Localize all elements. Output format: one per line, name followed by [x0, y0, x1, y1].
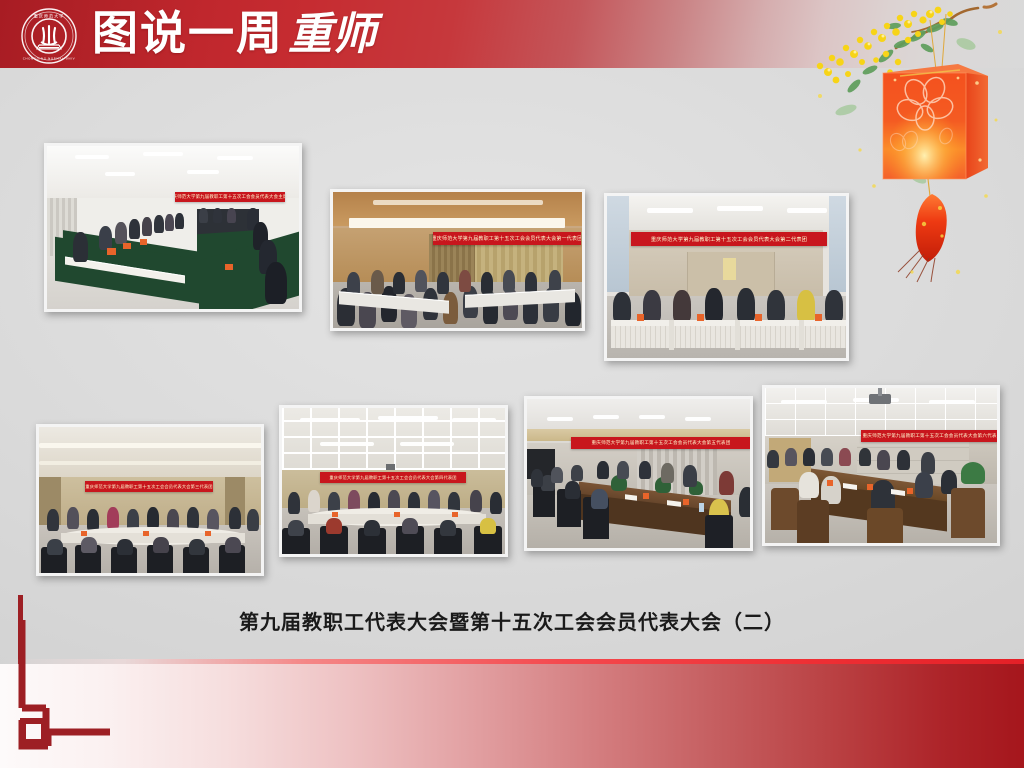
photo-delegation-6[interactable]: 重庆师范大学第九届教职工第十五次工会会员代表大会第六代表团 — [762, 385, 1000, 546]
corner-ornament-icon — [18, 620, 128, 750]
photo-delegation-4[interactable]: 重庆师范大学第九届教职工第十五次工会会员代表大会第四代表团 — [279, 405, 508, 557]
photo-presidium-meeting[interactable]: 重庆师范大学第九届教职工第十五次工会会员代表大会主席团 — [44, 143, 302, 312]
photo-banner: 重庆师范大学第九届教职工第十五次工会会员代表大会主席团 — [175, 192, 285, 202]
photo-banner: 重庆师范大学第九届教职工第十五次工会会员代表大会第六代表团 — [861, 430, 997, 442]
photo-delegation-1[interactable]: 重庆师范大学第九届教职工第十五次工会会员代表大会第一代表团 — [330, 189, 585, 331]
caption-row: 第九届教职工代表大会暨第十五次工会会员代表大会（二） — [0, 592, 1024, 652]
svg-text:CHONGQING NORMAL UNIV: CHONGQING NORMAL UNIV — [23, 57, 75, 61]
photo-banner: 重庆师范大学第九届教职工第十五次工会会员代表大会第五代表团 — [571, 437, 750, 449]
bottom-gradient-band — [0, 664, 1024, 768]
photo-delegation-3[interactable]: 重庆师范大学第九届教职工第十五次工会会员代表大会第三代表团 — [36, 424, 264, 576]
photo-delegation-2[interactable]: 重庆师范大学第九届教职工第十五次工会会员代表大会第二代表团 — [604, 193, 849, 361]
page-title: 图说一周重师 — [92, 4, 376, 64]
slide-caption: 第九届教职工代表大会暨第十五次工会会员代表大会（二） — [0, 606, 1024, 635]
university-logo-icon: 重庆师范大学 CHONGQING NORMAL UNIV — [17, 7, 81, 65]
photo-banner: 重庆师范大学第九届教职工第十五次工会会员代表大会第三代表团 — [85, 481, 213, 492]
page-title-main: 图说一周 — [92, 6, 284, 60]
photo-banner: 重庆师范大学第九届教职工第十五次工会会员代表大会第二代表团 — [631, 232, 827, 246]
slide-canvas: 重庆师范大学 CHONGQING NORMAL UNIV 图说一周重师 — [0, 0, 1024, 768]
photo-delegation-5[interactable]: 重庆师范大学第九届教职工第十五次工会会员代表大会第五代表团 — [524, 396, 753, 551]
photo-banner: 重庆师范大学第九届教职工第十五次工会会员代表大会第四代表团 — [320, 472, 466, 483]
page-title-calligraphy: 重师 — [288, 9, 376, 60]
photo-banner: 重庆师范大学第九届教职工第十五次工会会员代表大会第一代表团 — [433, 232, 581, 245]
page-header: 重庆师范大学 CHONGQING NORMAL UNIV 图说一周重师 — [0, 0, 1024, 68]
svg-text:重庆师范大学: 重庆师范大学 — [34, 13, 65, 19]
